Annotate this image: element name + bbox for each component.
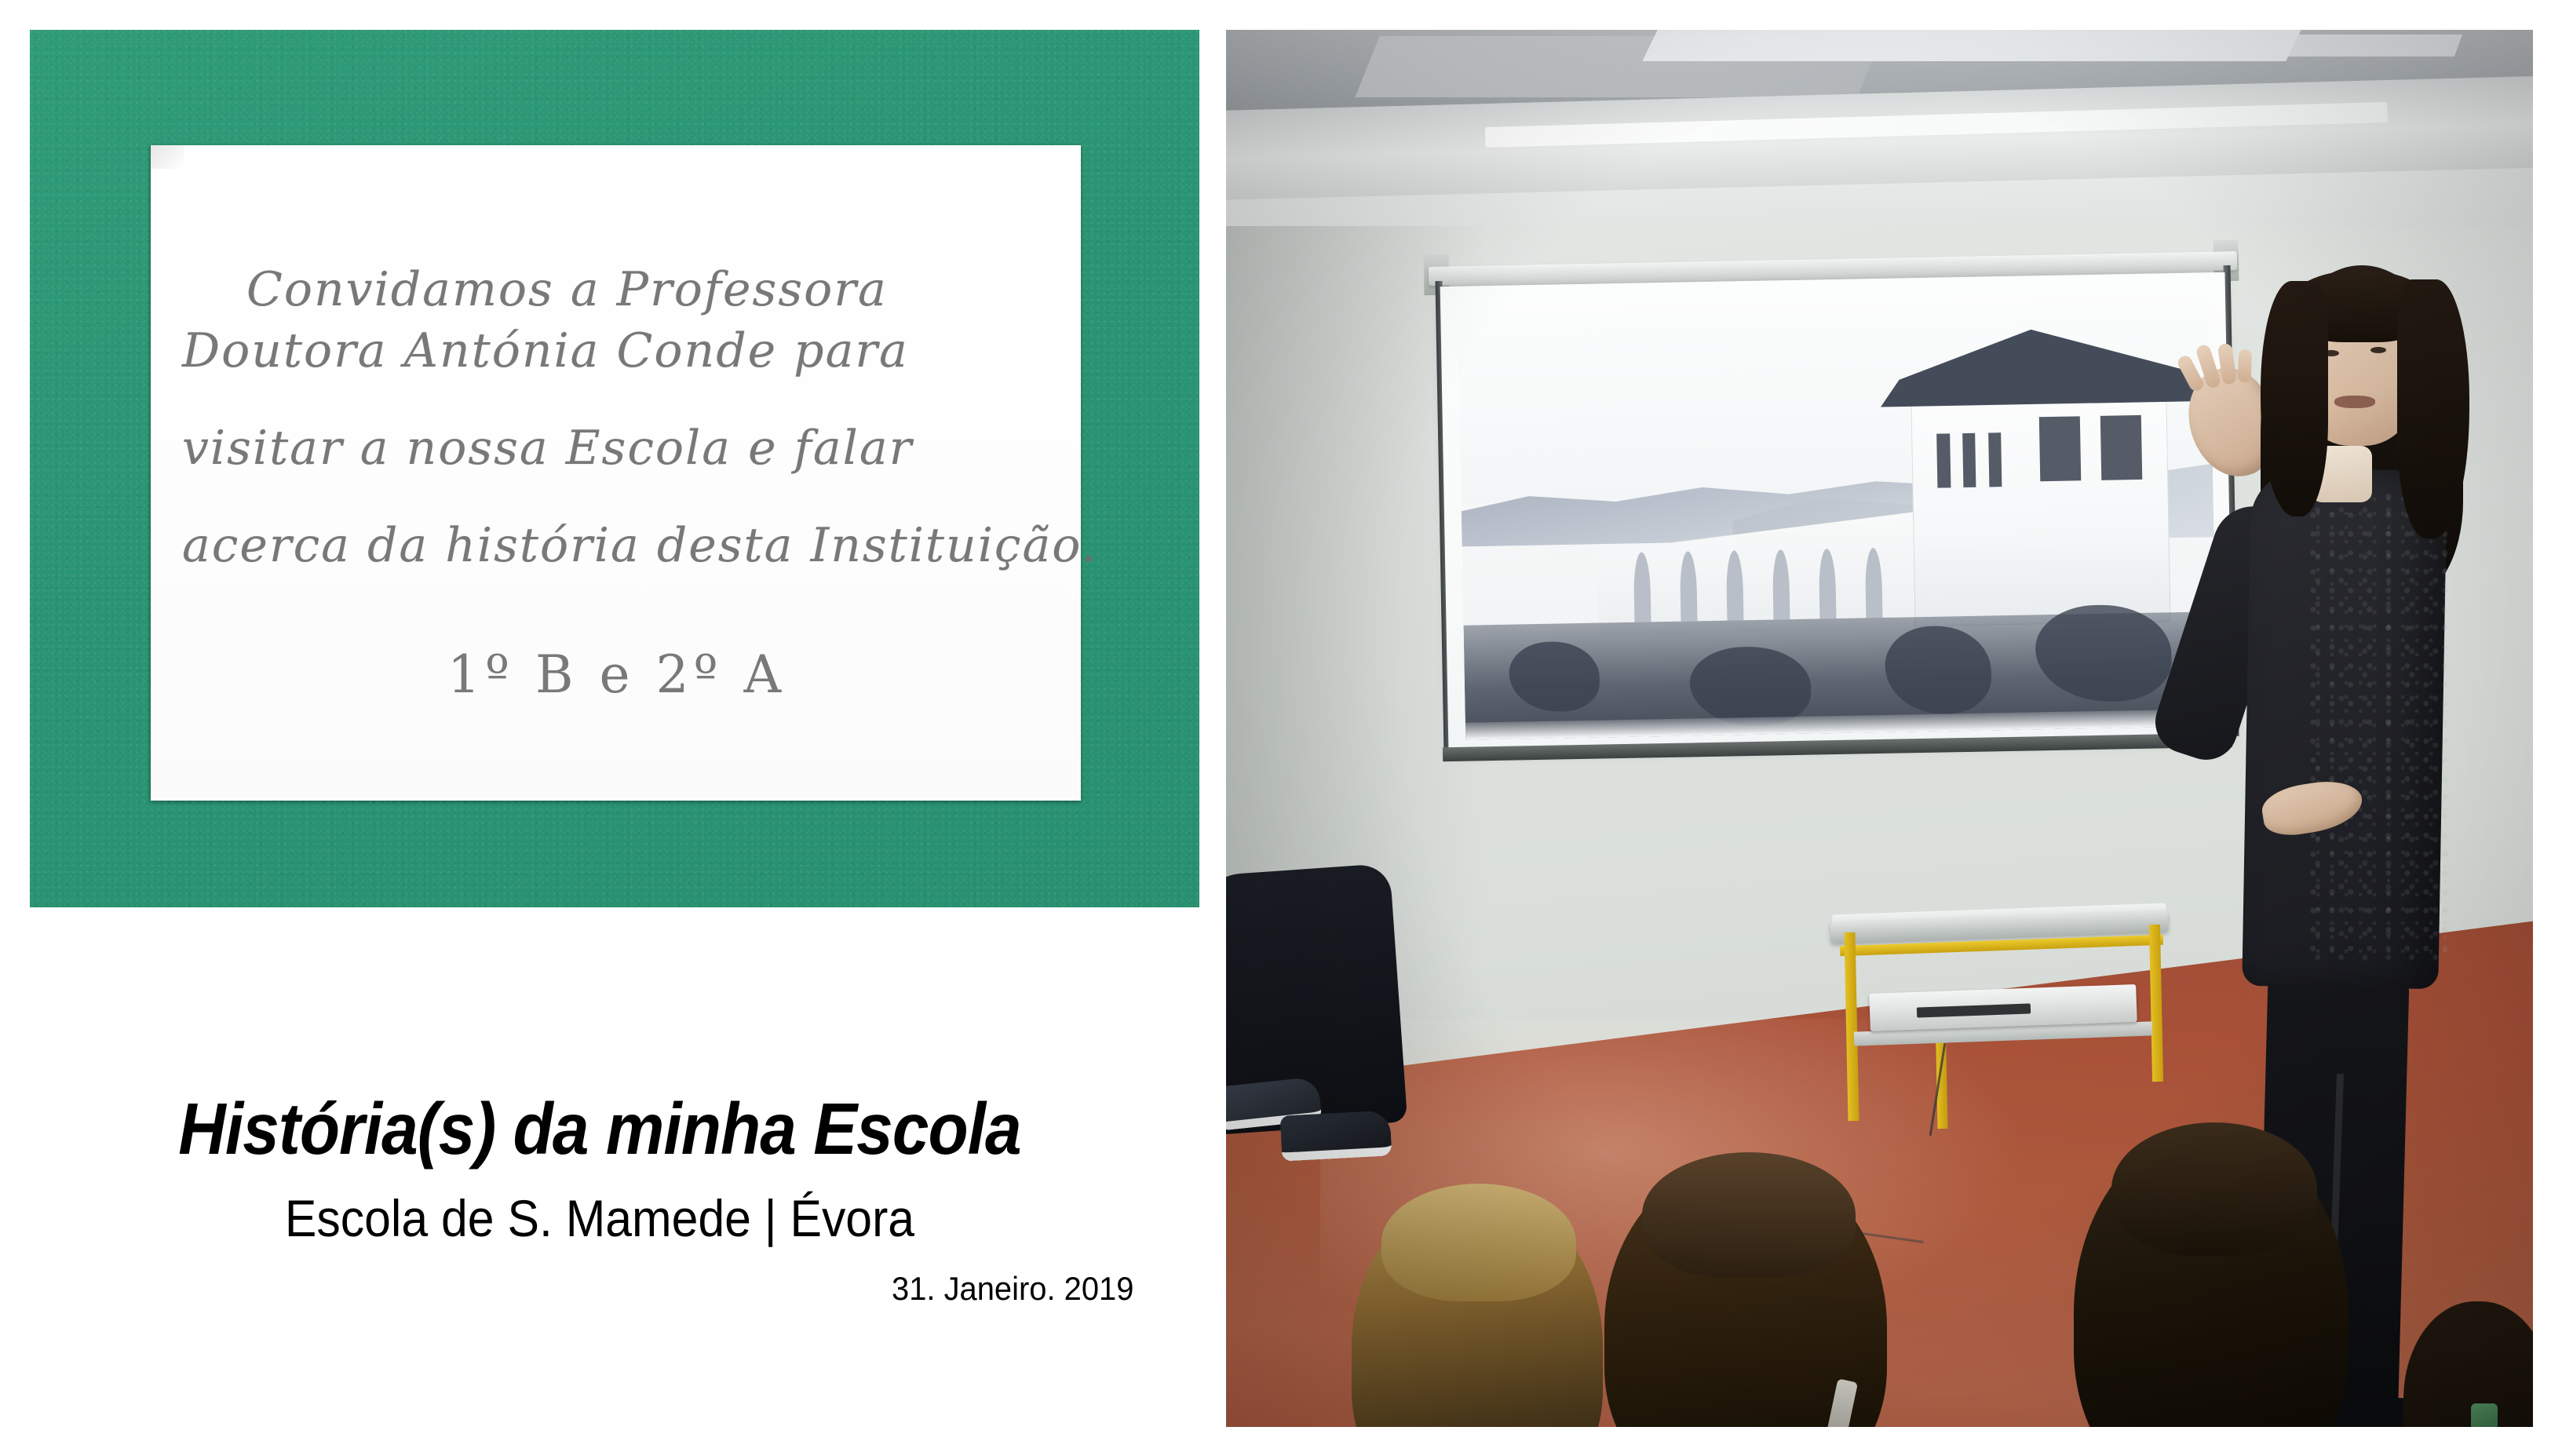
handwritten-line-4: acerca da história desta Instituição. xyxy=(182,503,1053,588)
slide-title: História(s) da minha Escola xyxy=(60,1093,1139,1166)
handwritten-line-2: Doutora Antónia Conde para xyxy=(182,308,1053,393)
photo-vignette xyxy=(1226,30,2533,1427)
handwritten-signature: 1º B e 2º A xyxy=(447,644,1053,705)
green-backing-board: Convidamos a Professora Doutora Antónia … xyxy=(30,30,1199,907)
handwriting-block: Convidamos a Professora Doutora Antónia … xyxy=(182,247,1053,705)
handwritten-invitation-card: Convidamos a Professora Doutora Antónia … xyxy=(151,145,1081,801)
slide-page: Convidamos a Professora Doutora Antónia … xyxy=(0,0,2562,1456)
handwritten-line-3: visitar a nossa Escola e falar xyxy=(182,406,1053,491)
caption-block: História(s) da minha Escola Escola de S.… xyxy=(0,1093,1199,1305)
classroom-photo xyxy=(1226,30,2533,1427)
slide-subtitle: Escola de S. Mamede | Évora xyxy=(48,1192,1151,1244)
slide-date: 31. Janeiro. 2019 xyxy=(60,1272,1199,1305)
